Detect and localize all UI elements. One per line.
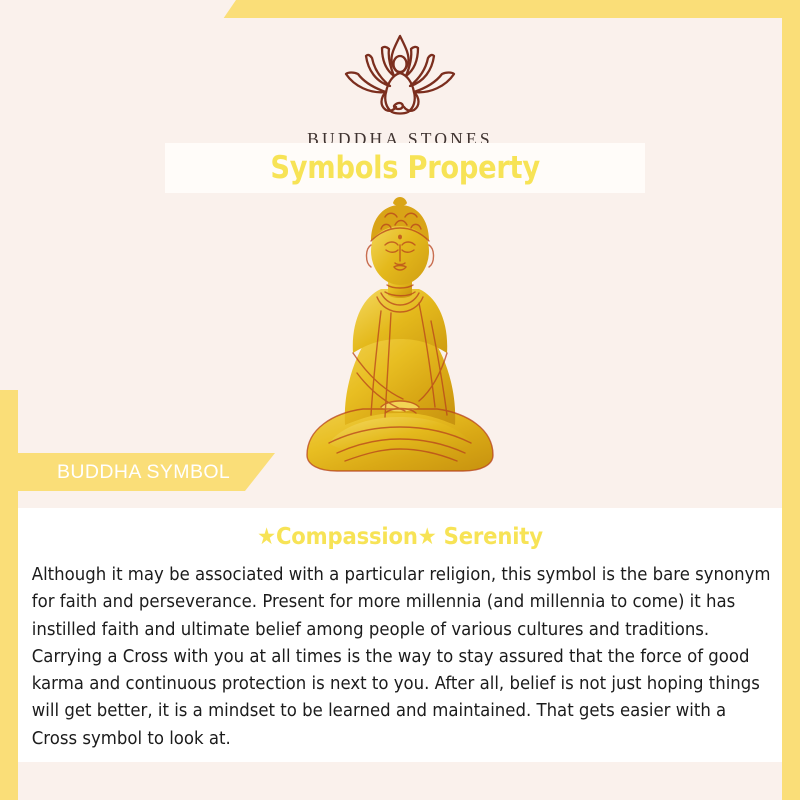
title-panel: Symbols Property <box>165 143 645 193</box>
subtitle-word-compassion: Compassion <box>276 524 418 550</box>
decorative-right-band <box>782 0 800 800</box>
page-title: Symbols Property <box>270 150 539 186</box>
content-card: ★Compassion★ Serenity Although it may be… <box>18 508 782 762</box>
seated-buddha-statue-image <box>285 193 515 483</box>
poster-page: BUDDHA STONES Symbols Property <box>0 0 800 800</box>
body-paragraph: Although it may be associated with a par… <box>28 562 777 753</box>
buddha-symbol-ribbon: BUDDHA SYMBOL <box>0 453 275 491</box>
star-icon-1: ★ <box>257 524 276 550</box>
ribbon-label: BUDDHA SYMBOL <box>57 461 230 484</box>
poster-canvas: BUDDHA STONES Symbols Property <box>18 18 782 800</box>
decorative-left-band <box>0 390 18 800</box>
brand-block: BUDDHA STONES <box>18 30 782 150</box>
star-icon-2: ★ <box>418 524 437 550</box>
subtitle-word-serenity: Serenity <box>436 524 542 550</box>
content-subtitle: ★Compassion★ Serenity <box>58 524 742 550</box>
lotus-meditation-icon <box>18 30 782 127</box>
